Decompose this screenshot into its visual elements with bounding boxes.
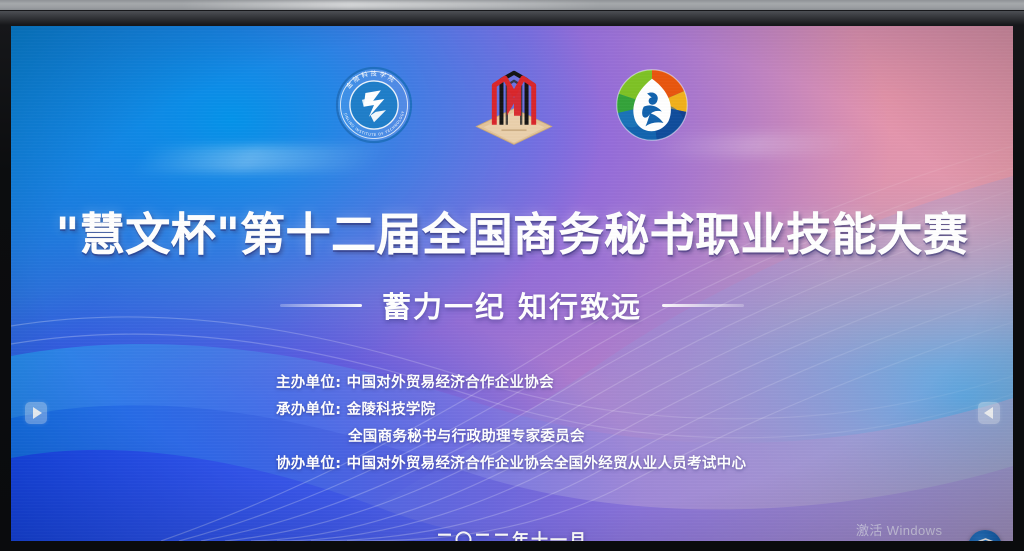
- slide-footer: 二〇二二年十一月 中国·南京: [11, 526, 1013, 541]
- m-monument-icon: [469, 62, 559, 148]
- organizer-block: 主办单位: 中国对外贸易经济合作企业协会 承办单位: 金陵科技学院 全国商务秘书…: [276, 370, 896, 478]
- organizer-line-committee: 全国商务秘书与行政助理专家委员会: [276, 424, 896, 451]
- organizer-line-undertaker: 承办单位: 金陵科技学院: [276, 397, 896, 424]
- organizer-line-host: 主办单位: 中国对外贸易经济合作企业协会: [276, 370, 896, 397]
- organizer-value-coorganizer: 中国对外贸易经济合作企业协会全国外经贸从业人员考试中心: [347, 456, 747, 472]
- shield-icon: [977, 538, 994, 542]
- footer-date: 二〇二二年十一月: [11, 526, 1013, 541]
- organizer-value-undertaker: 金陵科技学院: [347, 402, 436, 418]
- triangle-right-icon: [33, 407, 42, 419]
- bezel-top-sheen: [0, 11, 1024, 25]
- triangle-left-icon: [984, 407, 993, 419]
- slide-subtitle: 蓄力一纪 知行致远: [382, 284, 642, 326]
- slide-subtitle-row: 蓄力一纪 知行致远: [11, 284, 1013, 326]
- organizer-label-host: 主办单位:: [276, 375, 341, 391]
- rainbow-circle-logo: [611, 62, 693, 153]
- slideshow-prev-button[interactable]: [25, 402, 47, 424]
- rainbow-emblem-icon: [611, 62, 693, 148]
- m-book-3d-logo: [469, 62, 559, 153]
- organizer-label-undertaker: 承办单位:: [276, 402, 341, 418]
- slide-title: "慧文杯"第十二届全国商务秘书职业技能大赛: [11, 198, 1013, 263]
- slide-screen: 金陵科技学院 JINLING INSTITUTE OF TECHNOLOGY: [11, 26, 1013, 541]
- subtitle-rule-right: [662, 304, 744, 307]
- organizer-line-coorganizer: 协办单位: 中国对外贸易经济合作企业协会全国外经贸从业人员考试中心: [276, 451, 896, 478]
- university-seal-icon: 金陵科技学院 JINLING INSTITUTE OF TECHNOLOGY: [331, 62, 417, 148]
- organizer-label-coorganizer: 协办单位:: [276, 456, 341, 472]
- photo-of-conference-display: 金陵科技学院 JINLING INSTITUTE OF TECHNOLOGY: [0, 0, 1024, 551]
- organizer-value-host: 中国对外贸易经济合作企业协会: [347, 375, 554, 391]
- organizer-value-committee: 全国商务秘书与行政助理专家委员会: [348, 429, 585, 445]
- slideshow-next-button[interactable]: [978, 402, 1000, 424]
- jinling-institute-of-technology-seal-logo: 金陵科技学院 JINLING INSTITUTE OF TECHNOLOGY: [331, 62, 417, 153]
- logo-row: 金陵科技学院 JINLING INSTITUTE OF TECHNOLOGY: [11, 62, 1013, 153]
- subtitle-rule-left: [280, 304, 362, 307]
